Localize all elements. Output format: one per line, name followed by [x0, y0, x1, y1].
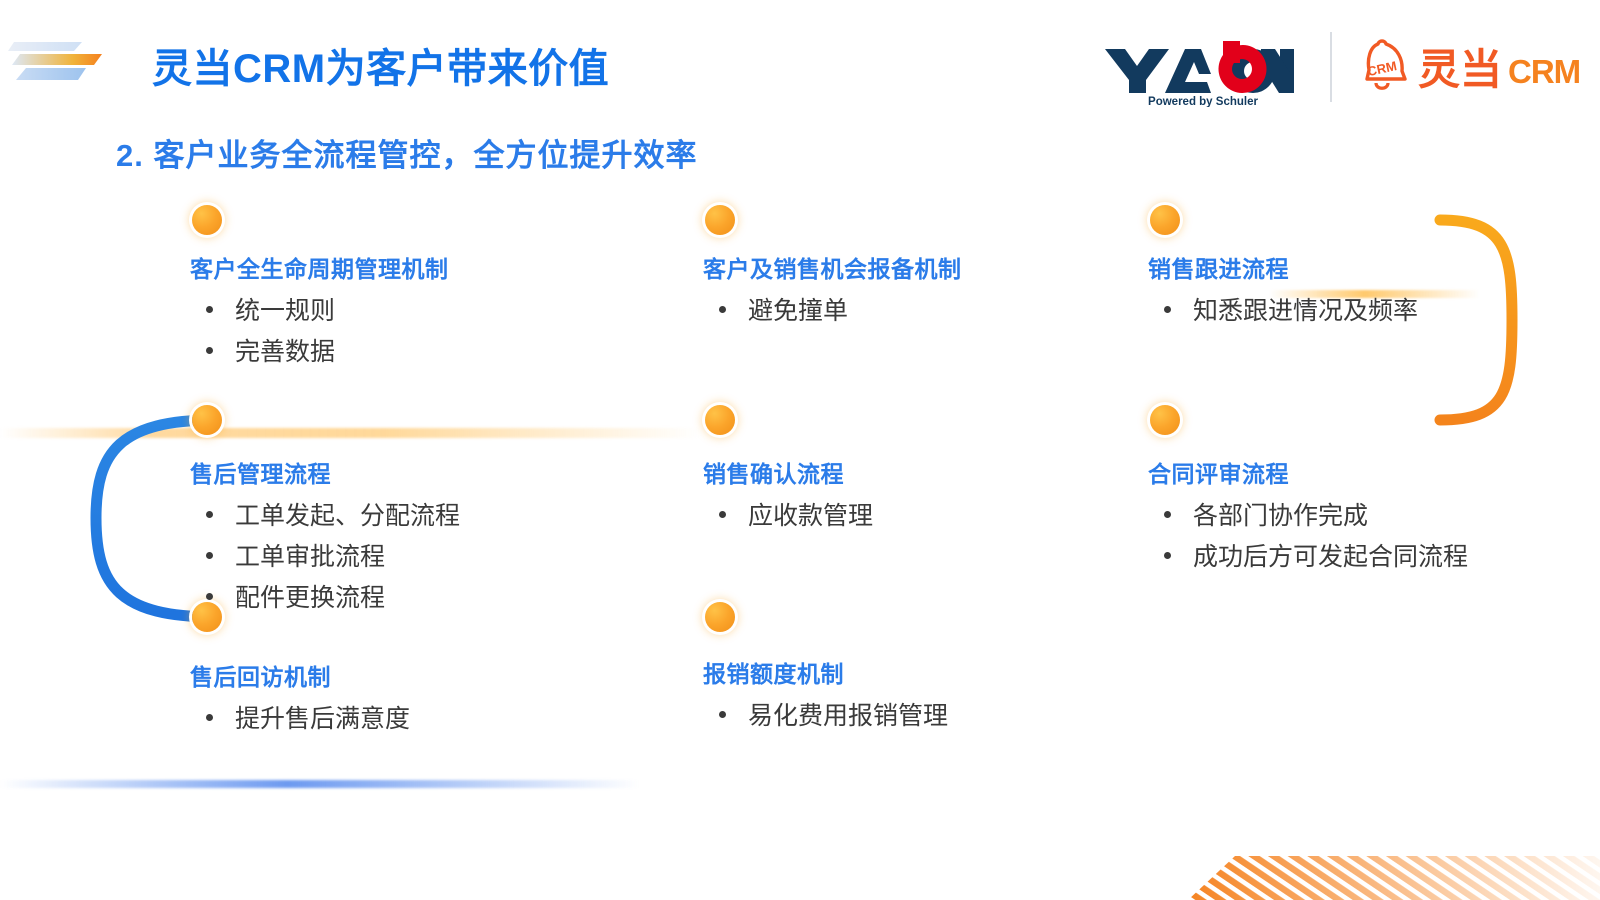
list-item: 工单发起、分配流程 [190, 497, 460, 536]
bullet-dot-icon [1164, 511, 1171, 518]
card-title: 销售确认流程 [703, 455, 873, 489]
svg-text:CRM: CRM [1508, 53, 1580, 90]
list-item: 统一规则 [190, 292, 449, 331]
card-bullet-list: 易化费用报销管理 [703, 697, 948, 736]
card-r1c2[interactable]: 客户及销售机会报备机制 避免撞单 [703, 250, 962, 331]
card-bullet-list: 应收款管理 [703, 497, 873, 536]
bullet-text: 统一规则 [235, 292, 335, 331]
orange-glow-line-left [0, 428, 700, 438]
list-item: 知悉跟进情况及频率 [1148, 292, 1418, 331]
bullet-dot-icon [206, 511, 213, 518]
card-r1c1[interactable]: 客户全生命周期管理机制 统一规则 完善数据 [190, 250, 449, 372]
card-r1c3[interactable]: 销售跟进流程 知悉跟进情况及频率 [1148, 250, 1418, 331]
bullet-text: 完善数据 [235, 333, 335, 372]
blue-glow-line-bottom [0, 780, 640, 788]
yadon-tagline: Powered by Schuler [1148, 96, 1258, 107]
bullet-text: 工单发起、分配流程 [235, 497, 460, 536]
list-item: 应收款管理 [703, 497, 873, 536]
card-bullet-list: 各部门协作完成 成功后方可发起合同流程 [1148, 497, 1468, 577]
bullet-text: 成功后方可发起合同流程 [1193, 538, 1468, 577]
card-bullet-list: 工单发起、分配流程 工单审批流程 配件更换流程 [190, 497, 460, 617]
card-bullet-list: 统一规则 完善数据 [190, 292, 449, 372]
card-bullet-list: 提升售后满意度 [190, 700, 410, 739]
bullet-dot-icon [206, 306, 213, 313]
card-title: 客户及销售机会报备机制 [703, 250, 962, 284]
timeline-node-r2c1[interactable] [192, 405, 222, 435]
timeline-node-r2c2[interactable] [705, 405, 735, 435]
bullet-text: 各部门协作完成 [1193, 497, 1368, 536]
timeline-node-r3c2[interactable] [705, 602, 735, 632]
card-title: 合同评审流程 [1148, 455, 1468, 489]
bullet-text: 提升售后满意度 [235, 700, 410, 739]
bullet-dot-icon [206, 593, 213, 600]
bullet-text: 配件更换流程 [235, 579, 385, 618]
card-title: 销售跟进流程 [1148, 250, 1418, 284]
list-item: 完善数据 [190, 333, 449, 372]
logo-divider [1330, 32, 1332, 102]
diagonal-stripes-decoration [1180, 810, 1600, 900]
card-r2c1[interactable]: 售后管理流程 工单发起、分配流程 工单审批流程 配件更换流程 [190, 455, 460, 617]
bullet-text: 工单审批流程 [235, 538, 385, 577]
card-r2c2[interactable]: 销售确认流程 应收款管理 [703, 455, 873, 536]
list-item: 易化费用报销管理 [703, 697, 948, 736]
svg-text:灵当: 灵当 [1418, 46, 1502, 93]
bullet-text: 避免撞单 [748, 292, 848, 331]
svg-text:CRM: CRM [1366, 58, 1398, 79]
card-bullet-list: 知悉跟进情况及频率 [1148, 292, 1418, 331]
card-title: 售后回访机制 [190, 658, 410, 692]
list-item: 配件更换流程 [190, 579, 460, 618]
card-bullet-list: 避免撞单 [703, 292, 962, 331]
bullet-dot-icon [206, 552, 213, 559]
card-title: 客户全生命周期管理机制 [190, 250, 449, 284]
page-title: 灵当CRM为客户带来价值 [152, 36, 609, 94]
card-r3c1[interactable]: 售后回访机制 提升售后满意度 [190, 658, 410, 739]
yadon-logo: Powered by Schuler [1103, 35, 1298, 107]
bullet-text: 易化费用报销管理 [748, 697, 948, 736]
timeline-node-r1c2[interactable] [705, 205, 735, 235]
list-item: 提升售后满意度 [190, 700, 410, 739]
bullet-dot-icon [719, 306, 726, 313]
card-r2c3[interactable]: 合同评审流程 各部门协作完成 成功后方可发起合同流程 [1148, 455, 1468, 577]
crm-bell-icon: CRM [1366, 41, 1405, 88]
bullet-dot-icon [1164, 306, 1171, 313]
section-subtitle: 2. 客户业务全流程管控，全方位提升效率 [116, 130, 697, 175]
card-title: 售后管理流程 [190, 455, 460, 489]
stacked-sheets-logo-icon [8, 38, 128, 86]
bullet-text: 应收款管理 [748, 497, 873, 536]
bullet-dot-icon [1164, 552, 1171, 559]
bullet-dot-icon [206, 714, 213, 721]
bullet-text: 知悉跟进情况及频率 [1193, 292, 1418, 331]
timeline-node-r1c3[interactable] [1150, 205, 1180, 235]
slide-canvas: 灵当CRM为客户带来价值 2. 客户业务全流程管控，全方位提升效率 Powere… [0, 0, 1600, 900]
list-item: 成功后方可发起合同流程 [1148, 538, 1468, 577]
card-r3c2[interactable]: 报销额度机制 易化费用报销管理 [703, 655, 948, 736]
bullet-dot-icon [719, 711, 726, 718]
lingdang-crm-logo: CRM 灵当 CRM [1348, 38, 1580, 100]
card-title: 报销额度机制 [703, 655, 948, 689]
bullet-dot-icon [206, 347, 213, 354]
timeline-node-r1c1[interactable] [192, 205, 222, 235]
list-item: 各部门协作完成 [1148, 497, 1468, 536]
bullet-dot-icon [719, 511, 726, 518]
list-item: 避免撞单 [703, 292, 962, 331]
timeline-node-r2c3[interactable] [1150, 405, 1180, 435]
list-item: 工单审批流程 [190, 538, 460, 577]
